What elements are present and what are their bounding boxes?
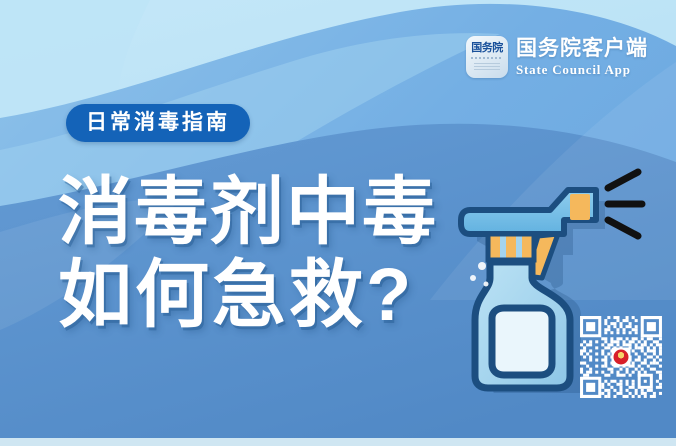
poster-canvas: 国务院 国务院客户端 State Council App 日常消毒指南 消毒剂中… xyxy=(0,0,676,446)
brand-name-en: State Council App xyxy=(516,63,648,76)
brand-text-block: 国务院客户端 State Council App xyxy=(516,38,648,76)
state-council-qr-code[interactable] xyxy=(577,313,665,401)
bottle-sparkles xyxy=(470,262,489,287)
national-emblem-icon xyxy=(612,348,631,367)
state-council-logo-icon: 国务院 xyxy=(466,36,508,78)
bg-bottom-strip xyxy=(0,438,676,446)
state-council-app-logo[interactable]: 国务院 国务院客户端 State Council App xyxy=(466,36,648,78)
category-badge[interactable]: 日常消毒指南 xyxy=(66,104,250,142)
logo-mark-text: 国务院 xyxy=(466,43,508,54)
headline-line-1: 消毒剂中毒 xyxy=(58,176,438,247)
headline-line-2: 如何急救? xyxy=(58,259,438,330)
brand-name-cn: 国务院客户端 xyxy=(516,38,648,59)
category-badge-label: 日常消毒指南 xyxy=(86,112,230,133)
logo-mark-rule xyxy=(471,57,503,59)
bottle-collar xyxy=(488,234,534,260)
spray-lines xyxy=(608,172,642,236)
bottle-label-panel xyxy=(492,308,552,375)
logo-mark-lines xyxy=(474,63,500,72)
national-emblem-glyph xyxy=(614,350,629,365)
nozzle-tip-accent xyxy=(570,194,590,220)
page-title: 消毒剂中毒 如何急救? xyxy=(58,176,438,330)
